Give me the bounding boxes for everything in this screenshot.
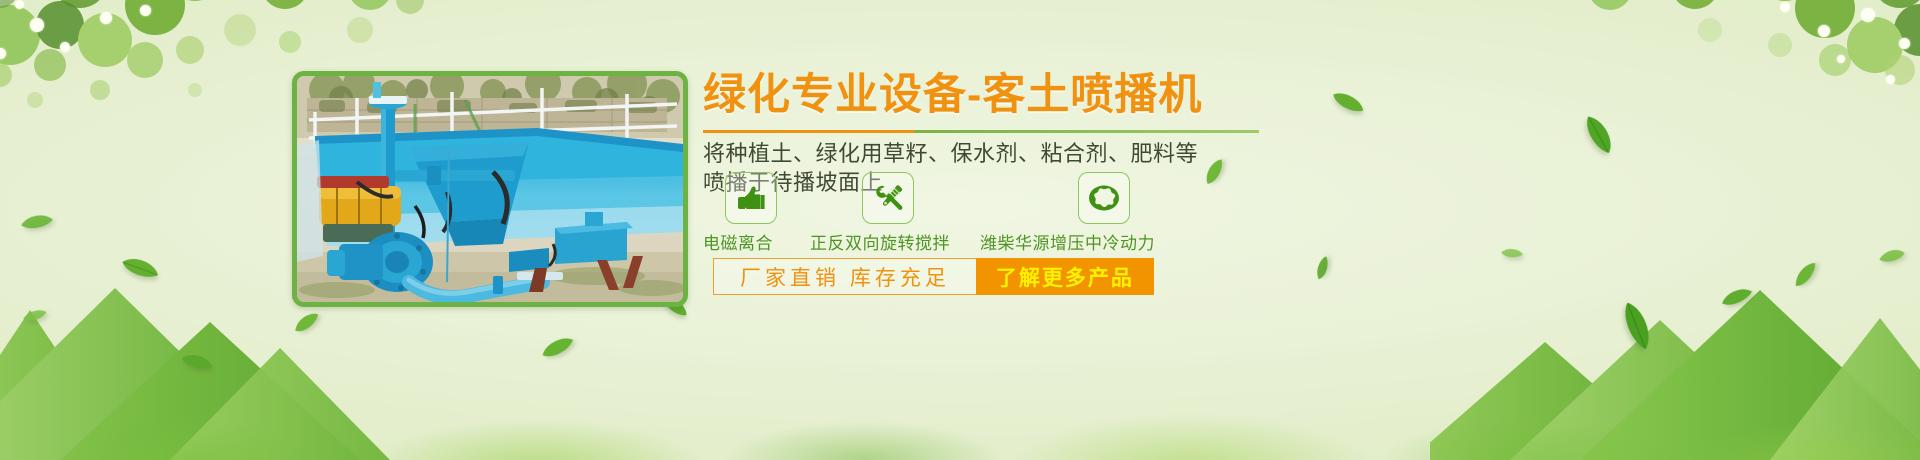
- blossom-icon: [1837, 55, 1845, 63]
- feature-label-row: 电磁离合 正反双向旋转搅拌 潍柴华源增压中冷动力: [703, 229, 1323, 253]
- page-title: 绿化专业设备-客土喷播机: [703, 70, 1323, 121]
- blossom-icon: [60, 42, 70, 52]
- floating-leaf-icon: [1877, 247, 1907, 266]
- floating-leaf-icon: [19, 213, 55, 233]
- floating-leaf-icon: [21, 307, 49, 325]
- floating-leaf-icon: [1328, 87, 1367, 119]
- floating-leaf-icon: [538, 333, 577, 363]
- floating-leaf-icon: [1718, 285, 1755, 311]
- blossom-icon: [15, 0, 24, 9]
- blossom-icon: [140, 5, 151, 16]
- floating-leaf-icon: [1313, 254, 1333, 283]
- wrench-screwdriver-icon: [873, 183, 903, 213]
- floating-leaf-icon: [179, 350, 216, 375]
- feature-icon-box-engine-power: [1078, 172, 1130, 224]
- blossom-icon: [30, 18, 44, 32]
- gear-icon: [1088, 184, 1120, 212]
- grass-texture-decoration: [0, 310, 1920, 460]
- floating-leaf-icon: [1617, 298, 1655, 354]
- blossom-icon: [1780, 2, 1790, 12]
- blossom-icon: [1818, 25, 1830, 37]
- floating-leaf-icon: [1790, 258, 1822, 291]
- canopy-right-svg: [1340, 0, 1920, 160]
- blossom-icon: [1861, 8, 1875, 22]
- mountains-right-svg: [1430, 230, 1920, 460]
- feature-icon-box-electromagnetic-clutch: [725, 172, 777, 224]
- cta-note: 厂家直销 库存充足: [713, 258, 976, 295]
- cta-bar: 厂家直销 库存充足 了解更多产品: [713, 258, 1154, 295]
- feature-label-bidirectional-mixing: 正反双向旋转搅拌: [810, 229, 950, 254]
- floating-leaf-icon: [291, 309, 324, 337]
- feature-icon-row: [703, 172, 1323, 222]
- learn-more-button[interactable]: 了解更多产品: [976, 258, 1154, 295]
- hydroseeder-machine-illustration: [297, 76, 683, 302]
- foliage-canopy-right-decoration: [1340, 0, 1920, 140]
- feature-label-electromagnetic-clutch: 电磁离合: [703, 229, 773, 254]
- product-photo-frame: [292, 71, 688, 307]
- feature-list: 电磁离合 正反双向旋转搅拌 潍柴华源增压中冷动力: [703, 172, 1323, 253]
- blossom-icon: [1899, 38, 1910, 49]
- floating-leaf-icon: [118, 253, 162, 285]
- floating-leaf-icon: [1579, 111, 1617, 159]
- floating-leaf-icon: [1499, 246, 1524, 260]
- promo-banner: 绿化专业设备-客土喷播机 将种植土、绿化用草籽、保水剂、粘合剂、肥料等 喷播于待…: [0, 0, 1920, 460]
- blossom-icon: [1886, 75, 1895, 84]
- title-divider: [703, 130, 1259, 133]
- blossom-icon: [0, 48, 6, 59]
- feature-label-engine-power: 潍柴华源增压中冷动力: [980, 229, 1155, 254]
- product-photo: [297, 76, 683, 302]
- mountain-range-right-decoration: [1430, 230, 1920, 460]
- subtitle-line-1: 将种植土、绿化用草籽、保水剂、粘合剂、肥料等: [703, 139, 1323, 168]
- thumbs-up-icon: [736, 184, 766, 212]
- blossom-icon: [100, 12, 112, 24]
- feature-icon-box-bidirectional-mixing: [862, 172, 914, 224]
